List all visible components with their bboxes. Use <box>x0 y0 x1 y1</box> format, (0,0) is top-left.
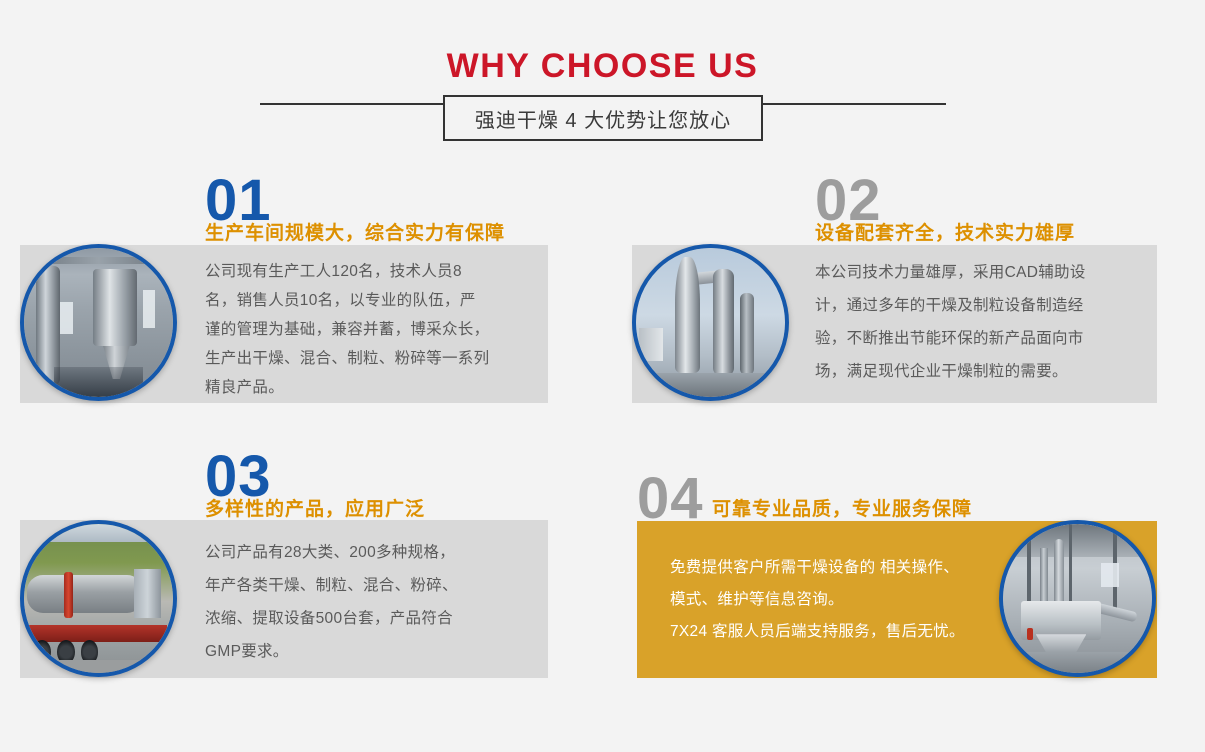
feature-body-04-line-1: 免费提供客户所需干燥设备的 相关操作、 <box>670 552 1000 584</box>
feature-number-04: 04 <box>637 470 704 528</box>
feature-body-03-line-2: 年产各类干燥、制粒、混合、粉碎、 <box>205 569 535 602</box>
feature-subhead-01: 生产车间规模大，综合实力有保障 <box>205 218 505 245</box>
feature-body-01-line-3: 谨的管理为基础，兼容并蓄，博采众长， <box>205 315 535 344</box>
feature-body-02-line-4: 场，满足现代企业干燥制粒的需要。 <box>815 355 1160 388</box>
feature-photo-04 <box>999 520 1156 677</box>
outdoor-drying-tower-photo <box>636 248 785 397</box>
feature-photo-03 <box>20 520 177 677</box>
fluid-bed-dryer-workshop-photo <box>1003 524 1152 673</box>
feature-photo-02 <box>632 244 789 401</box>
feature-subhead-02: 设备配套齐全，技术实力雄厚 <box>815 218 1075 245</box>
feature-subhead-04: 可靠专业品质，专业服务保障 <box>712 494 972 521</box>
feature-body-04-line-2: 模式、维护等信息咨询。 <box>670 584 1000 616</box>
feature-body-03-line-3: 浓缩、提取设备500台套，产品符合 <box>205 602 535 635</box>
page-title: WHY CHOOSE US <box>0 47 1205 86</box>
spray-dryer-workshop-photo <box>24 248 173 397</box>
feature-body-03: 公司产品有28大类、200多种规格， 年产各类干燥、制粒、混合、粉碎、 浓缩、提… <box>205 536 535 668</box>
feature-body-01-line-1: 公司现有生产工人120名，技术人员8 <box>205 257 535 286</box>
why-choose-us-page: WHY CHOOSE US 强迪干燥 4 大优势让您放心 01 生产车间规模大，… <box>0 0 1205 752</box>
feature-body-02-line-1: 本公司技术力量雄厚，采用CAD辅助设 <box>815 256 1160 289</box>
feature-body-02-line-3: 验，不断推出节能环保的新产品面向市 <box>815 322 1160 355</box>
feature-body-03-line-4: GMP要求。 <box>205 635 535 668</box>
rotary-dryer-on-truck-photo <box>24 524 173 673</box>
feature-photo-01 <box>20 244 177 401</box>
header-subtitle-box: 强迪干燥 4 大优势让您放心 <box>443 95 763 141</box>
header-rule-left <box>260 103 444 105</box>
page-subtitle: 强迪干燥 4 大优势让您放心 <box>475 104 731 133</box>
header-rule-right <box>762 103 946 105</box>
feature-body-01: 公司现有生产工人120名，技术人员8 名，销售人员10名，以专业的队伍，严 谨的… <box>205 257 535 402</box>
feature-body-01-line-5: 精良产品。 <box>205 373 535 402</box>
feature-body-02: 本公司技术力量雄厚，采用CAD辅助设 计，通过多年的干燥及制粒设备制造经 验，不… <box>815 256 1160 388</box>
feature-body-03-line-1: 公司产品有28大类、200多种规格， <box>205 536 535 569</box>
feature-body-04: 免费提供客户所需干燥设备的 相关操作、 模式、维护等信息咨询。 7X24 客服人… <box>670 552 1000 648</box>
feature-body-01-line-4: 生产出干燥、混合、制粒、粉碎等一系列 <box>205 344 535 373</box>
feature-body-01-line-2: 名，销售人员10名，以专业的队伍，严 <box>205 286 535 315</box>
feature-subhead-03: 多样性的产品，应用广泛 <box>205 494 425 521</box>
feature-body-04-line-3: 7X24 客服人员后端支持服务，售后无忧。 <box>670 616 1000 648</box>
feature-body-02-line-2: 计，通过多年的干燥及制粒设备制造经 <box>815 289 1160 322</box>
